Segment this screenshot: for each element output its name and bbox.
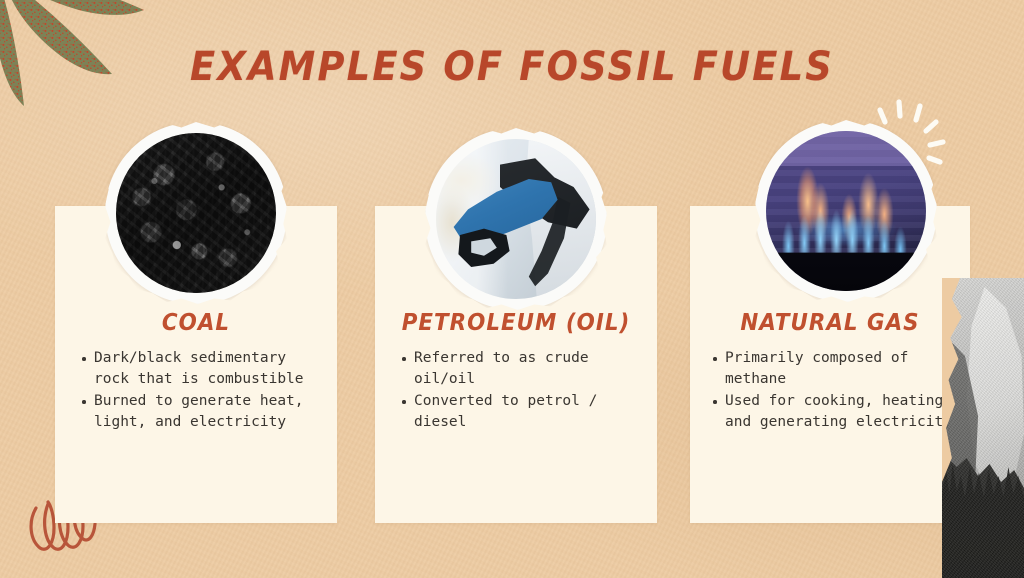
fuel-nozzle-photo xyxy=(425,128,607,310)
photo-inner-petroleum xyxy=(436,139,596,299)
list-item: Used for cooking, heating, and generatin… xyxy=(712,391,960,433)
slide-canvas: EXAMPLES OF FOSSIL FUELS COAL Dark/black… xyxy=(0,0,1024,578)
card-heading-coal: COAL xyxy=(65,310,327,336)
list-item: Burned to generate heat, light, and elec… xyxy=(81,391,321,433)
bullet-list-petroleum: Referred to as crude oil/oil Converted t… xyxy=(401,348,641,435)
bullet-list-coal: Dark/black sedimentary rock that is comb… xyxy=(81,348,321,435)
coal-highlight-specks xyxy=(116,133,276,293)
list-item: Primarily composed of methane xyxy=(712,348,960,390)
list-item: Referred to as crude oil/oil xyxy=(401,348,641,390)
list-item: Dark/black sedimentary rock that is comb… xyxy=(81,348,321,390)
photo-inner-natural-gas xyxy=(766,131,926,291)
coal-chunks-photo xyxy=(105,122,287,304)
card-heading-petroleum: PETROLEUM (OIL) xyxy=(385,310,647,336)
card-heading-natural-gas: NATURAL GAS xyxy=(700,310,960,336)
bullet-list-natural-gas: Primarily composed of methane Used for c… xyxy=(712,348,960,435)
list-item: Converted to petrol / diesel xyxy=(401,391,641,433)
mountain-photo-collage xyxy=(942,278,1024,578)
photo-inner-coal xyxy=(116,133,276,293)
gas-burner-flame-photo xyxy=(755,120,937,302)
